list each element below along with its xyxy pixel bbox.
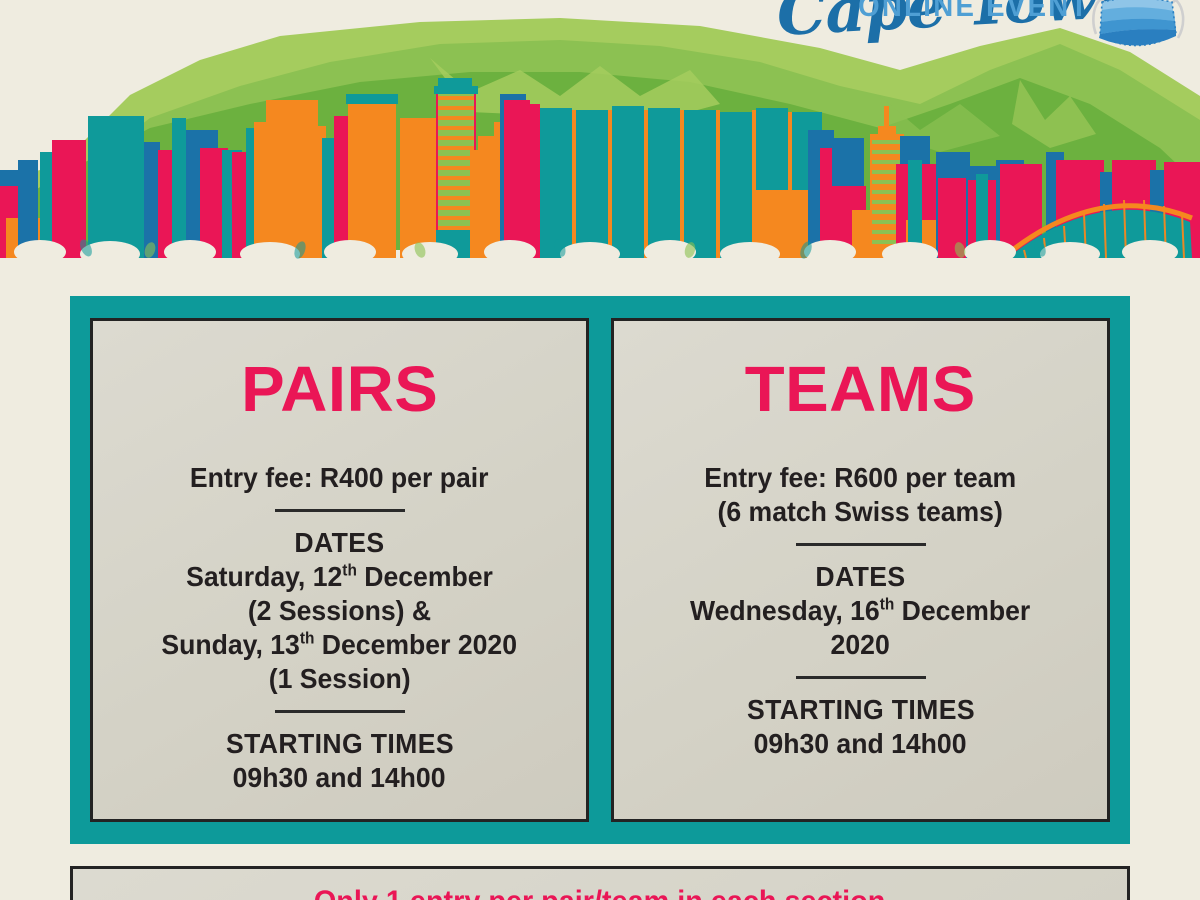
date-text: Wednesday, 16 <box>690 595 880 626</box>
divider <box>275 509 405 512</box>
date-text-tail: December 2020 <box>315 629 518 660</box>
pairs-date-line-3: Sunday, 13th December 2020 <box>162 628 518 662</box>
pairs-date-line-2: (2 Sessions) & <box>248 594 431 628</box>
pairs-dates-heading: DATES <box>294 526 384 560</box>
teams-dates-heading: DATES <box>815 560 905 594</box>
date-ordinal: th <box>342 562 357 580</box>
entry-restriction-note: Only 1 entry per pair/team in each secti… <box>314 885 885 900</box>
pairs-panel: PAIRS Entry fee: R400 per pair DATES Sat… <box>90 318 589 822</box>
logo-subtitle: ONLINE EVENT <box>858 0 1090 24</box>
date-ordinal: th <box>300 630 315 648</box>
teams-times-value: 09h30 and 14h00 <box>754 727 967 761</box>
divider <box>796 543 926 546</box>
date-text-tail: December <box>895 595 1031 626</box>
entry-restriction-note-box: Only 1 entry per pair/team in each secti… <box>70 866 1130 900</box>
teams-panel: TEAMS Entry fee: R600 per team (6 match … <box>611 318 1110 822</box>
teams-times-heading: STARTING TIMES <box>747 693 975 727</box>
divider <box>796 676 926 679</box>
pairs-date-line-4: (1 Session) <box>269 662 411 696</box>
date-text: Sunday, 13 <box>162 629 300 660</box>
teams-date-line-1: Wednesday, 16th December <box>690 594 1030 628</box>
event-details-frame: PAIRS Entry fee: R400 per pair DATES Sat… <box>70 296 1130 844</box>
date-text: (2 Sessions) & <box>248 595 431 626</box>
teams-panel-title: TEAMS <box>745 357 976 421</box>
pairs-date-line-1: Saturday, 12th December <box>186 560 493 594</box>
date-text: 2020 <box>831 629 890 660</box>
date-ordinal: th <box>880 596 895 614</box>
divider <box>275 710 405 713</box>
pairs-times-heading: STARTING TIMES <box>226 727 454 761</box>
face-mask-icon <box>1090 0 1186 62</box>
teams-entry-fee: Entry fee: R600 per team <box>705 461 1017 495</box>
teams-entry-fee-note: (6 match Swiss teams) <box>718 495 1003 529</box>
poster-root: Cape Town ONLINE EVENT PAIRS Entry fee: … <box>0 0 1200 900</box>
date-text: (1 Session) <box>269 663 411 694</box>
date-text-tail: December <box>357 561 493 592</box>
pairs-panel-title: PAIRS <box>241 357 438 421</box>
event-logo: Cape Town ONLINE EVENT <box>778 0 1178 60</box>
pairs-entry-fee: Entry fee: R400 per pair <box>190 461 489 495</box>
teams-date-line-2: 2020 <box>831 628 890 662</box>
date-text: Saturday, 12 <box>186 561 342 592</box>
pairs-times-value: 09h30 and 14h00 <box>233 761 446 795</box>
